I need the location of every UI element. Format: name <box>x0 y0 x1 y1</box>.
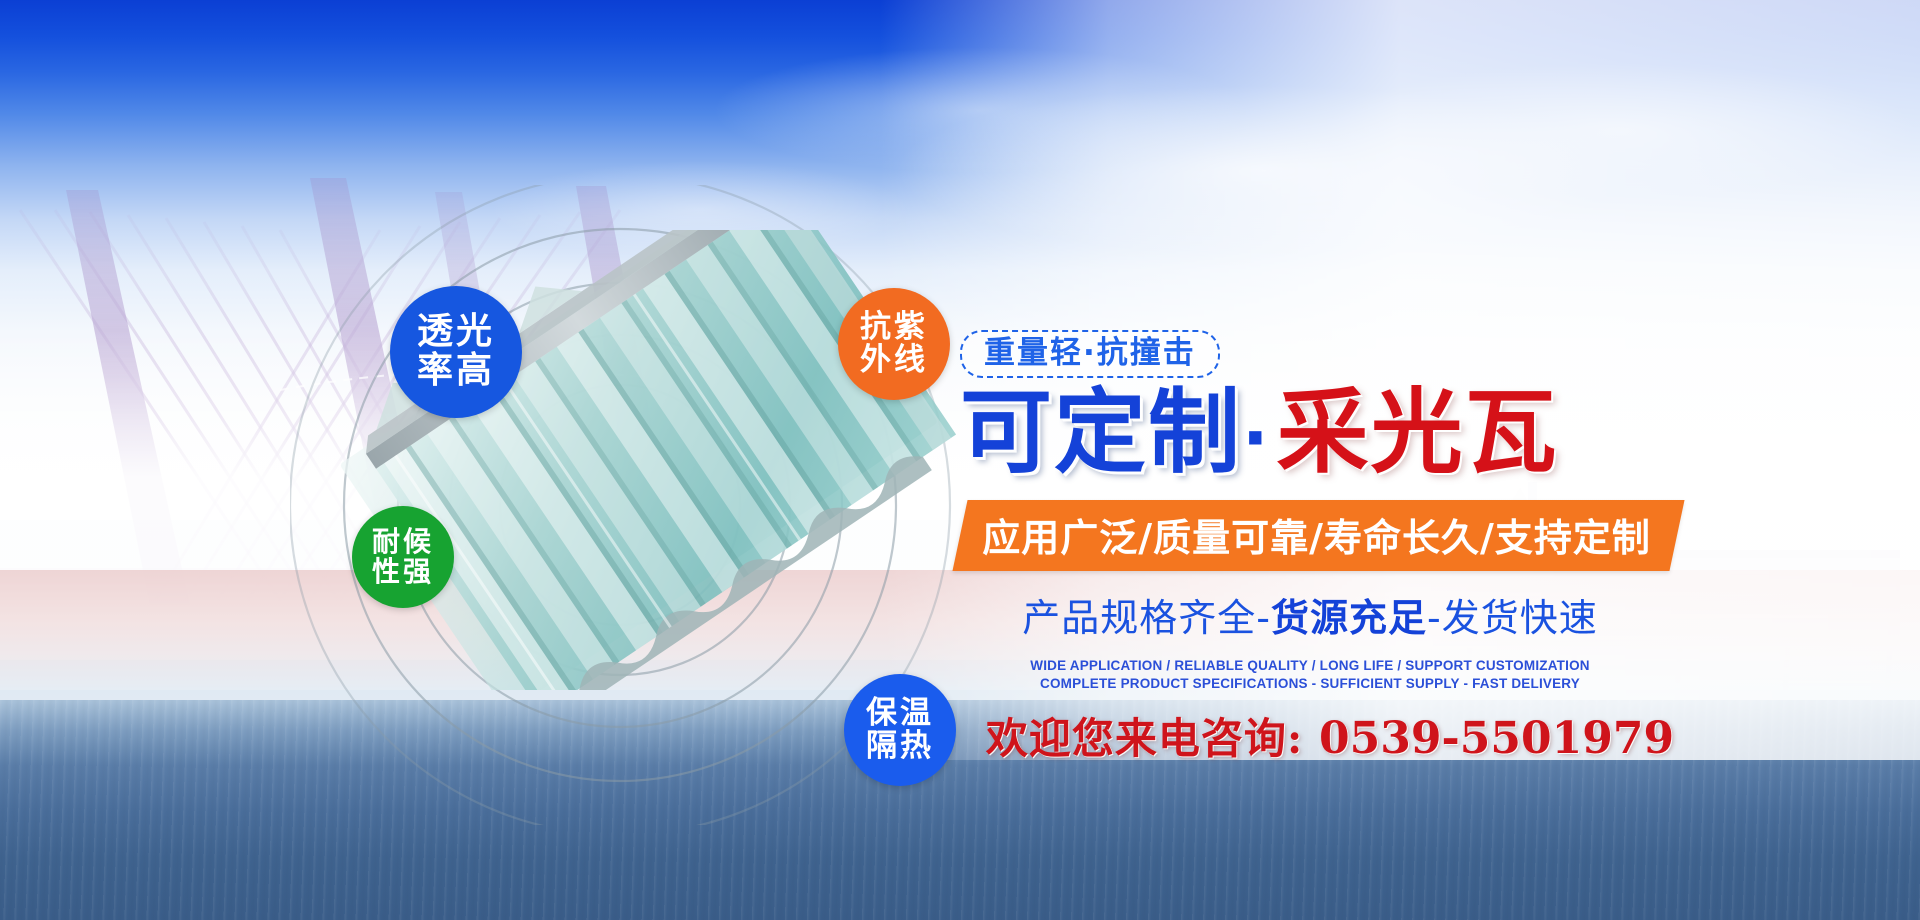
badge-thermal-insulation[interactable]: 保温 隔热 <box>844 674 956 786</box>
headline-separator: · <box>1242 398 1271 480</box>
badge-uv-line1: 抗紫 <box>860 311 928 344</box>
subline-part2: -发货快速 <box>1427 596 1598 640</box>
phone-label: 欢迎您来电咨询: <box>986 714 1304 763</box>
english-tagline-2: COMPLETE PRODUCT SPECIFICATIONS - SUFFIC… <box>960 676 1660 691</box>
badge-thermal-line1: 保温 <box>866 697 934 730</box>
badge-thermal-line2: 隔热 <box>866 730 934 763</box>
badge-weather-line2: 性强 <box>372 557 434 587</box>
feature-tag-pill: 重量轻·抗撞击 <box>960 330 1220 378</box>
features-orange-bar-text: 应用广泛/质量可靠/寿命长久/支持定制 <box>982 507 1651 562</box>
headline-product-name: 采光瓦 <box>1277 379 1559 486</box>
badge-weather-line1: 耐候 <box>372 527 434 557</box>
supply-subline: 产品规格齐全-货源充足-发货快速 <box>960 587 1660 642</box>
badge-light-line1: 透光 <box>417 313 495 352</box>
badge-uv-resistant[interactable]: 抗紫 外线 <box>838 288 950 400</box>
headline: 可定制·采光瓦 <box>960 384 1900 482</box>
english-tagline-1: WIDE APPLICATION / RELIABLE QUALITY / LO… <box>960 658 1660 673</box>
badge-light-transmission[interactable]: 透光 率高 <box>390 286 522 418</box>
marketing-copy-block: 重量轻·抗撞击 可定制·采光瓦 应用广泛/质量可靠/寿命长久/支持定制 产品规格… <box>960 330 1900 766</box>
badge-uv-line2: 外线 <box>860 344 928 377</box>
phone-number[interactable]: 0539-5501979 <box>1319 713 1674 764</box>
promotional-banner: 透光 率高 抗紫 外线 耐候 性强 保温 隔热 重量轻·抗撞击 可定制·采光瓦 … <box>0 0 1920 920</box>
headline-customizable: 可定制 <box>960 379 1242 486</box>
contact-phone-line[interactable]: 欢迎您来电咨询: 0539-5501979 <box>960 705 1700 766</box>
badge-weather-resistant[interactable]: 耐候 性强 <box>352 506 454 608</box>
features-orange-bar: 应用广泛/质量可靠/寿命长久/支持定制 <box>952 500 1684 571</box>
badge-light-line2: 率高 <box>417 352 495 391</box>
subline-part1: 产品规格齐全- <box>1022 596 1271 640</box>
subline-highlight: 货源充足 <box>1271 596 1427 640</box>
